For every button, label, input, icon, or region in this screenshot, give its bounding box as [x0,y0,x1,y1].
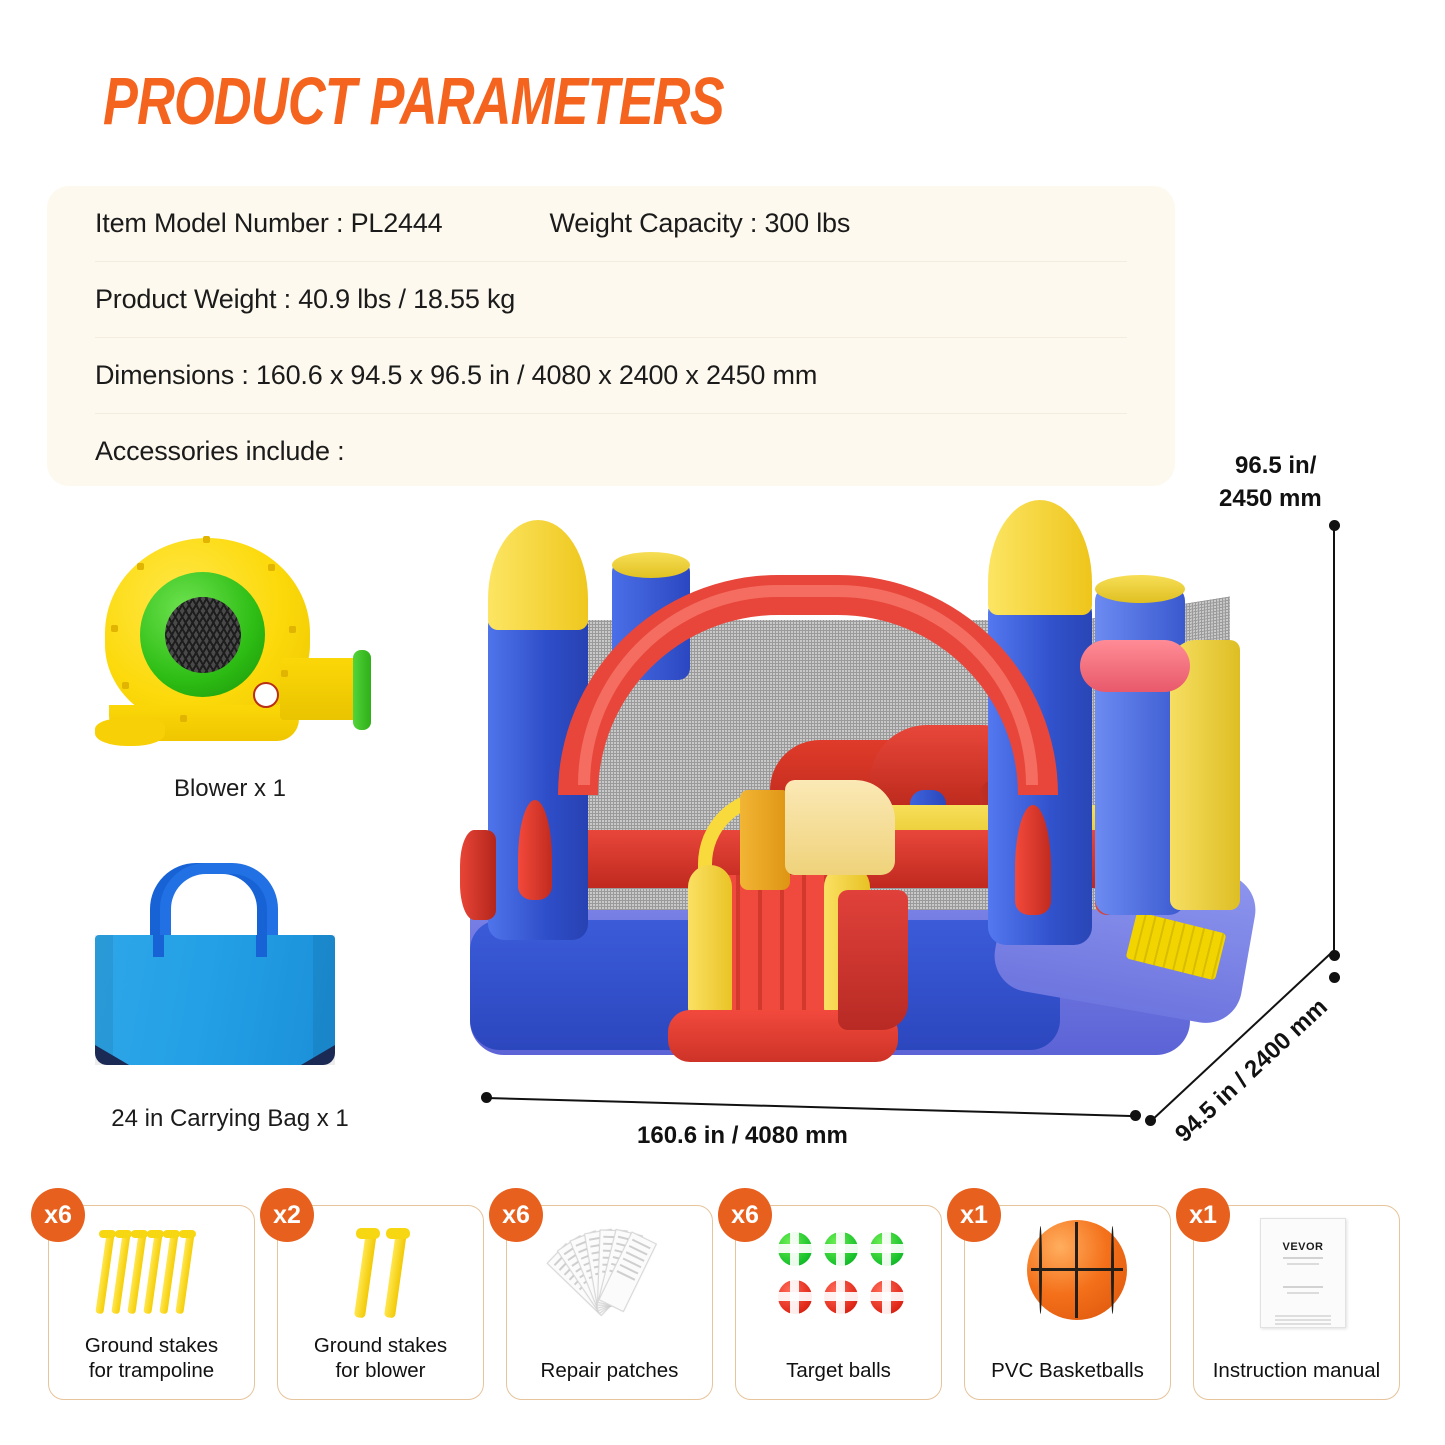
accessory-card-label: Ground stakes for blower [278,1333,483,1383]
accessory-label-line1: Ground stakes [85,1334,218,1357]
quantity-badge: x1 [1176,1188,1230,1242]
spec-weight-capacity: Weight Capacity : 300 lbs [549,208,850,239]
dimension-height-label-line1: 96.5 in/ [1235,452,1316,480]
blower-bolt [137,563,144,570]
manual-logo: VEVOR [1261,1241,1345,1253]
slide-back-ramp [785,780,895,875]
blower-caption: Blower x 1 [85,775,375,803]
accessory-cards: x6 Ground stakes for trampoline x2 [48,1205,1400,1405]
bag-side-panel [313,935,335,1065]
accessory-label-line2: for blower [335,1359,425,1382]
manual-body-line [1275,1315,1331,1317]
slide-back-post [740,790,790,890]
spec-panel: Item Model Number : PL2444 Weight Capaci… [47,186,1175,486]
dimension-depth-dot-top [1329,972,1340,983]
spec-item-model-number: Item Model Number : PL2444 [95,208,442,239]
spec-accessories-include: Accessories include : [95,436,344,467]
accessory-label-line1: PVC Basketballs [991,1359,1144,1382]
ground-stakes-trampoline-icon [49,1218,254,1328]
bounce-house-image [440,490,1260,1110]
house-column-right-top [1095,575,1185,603]
manual-model [1287,1292,1319,1294]
blower-foot-left [95,718,165,746]
blower-bolt [281,670,288,677]
manual-subtitle [1287,1263,1319,1265]
blower-bolt [289,626,296,633]
house-tower-right-cone [988,500,1092,615]
instruction-manual-icon: VEVOR [1194,1218,1399,1328]
spec-row: Accessories include : [95,414,1127,489]
blower-bolt [111,625,118,632]
dimension-width-dot-left [481,1092,492,1103]
accessory-card-label: Ground stakes for trampoline [49,1333,254,1383]
quantity-badge: x6 [489,1188,543,1242]
dimension-width-dot-right [1130,1110,1141,1121]
accessory-card-instruction-manual[interactable]: x1 VEVOR Instruction manual [1193,1205,1400,1400]
repair-patches-icon [507,1218,712,1328]
slide-rail-left [688,865,732,1030]
manual-body-line [1275,1319,1331,1321]
accessory-card-label: Instruction manual [1194,1358,1399,1383]
quantity-badge: x6 [31,1188,85,1242]
house-tower-left-cone [488,520,588,630]
slide-surface [718,875,836,1025]
accessory-label-line2: for trampoline [89,1359,214,1382]
dimension-height-dot-top [1329,520,1340,531]
manual-body-line [1275,1323,1331,1325]
blower-bolt [122,682,129,689]
blower-grille [165,597,241,673]
accessory-card-label: PVC Basketballs [965,1358,1170,1383]
accessory-card-label: Target balls [736,1358,941,1383]
spec-product-weight: Product Weight : 40.9 lbs / 18.55 kg [95,284,515,315]
manual-product-name [1283,1286,1323,1288]
blower-bolt [180,715,187,722]
bag-strap [153,935,164,957]
accessory-card-target-balls[interactable]: x6 Target balls [735,1205,942,1400]
accessory-label-line1: Instruction manual [1213,1359,1381,1382]
bag-body [95,935,335,1065]
bag-side-panel [95,935,113,1065]
accessory-card-ground-stakes-trampoline[interactable]: x6 Ground stakes for trampoline [48,1205,255,1400]
accessory-label-line1: Repair patches [541,1359,679,1382]
page-title: PRODUCT PARAMETERS [103,68,724,135]
blower-warning-label [253,682,279,708]
basketball-body [1027,1220,1127,1320]
accessory-label-line1: Ground stakes [314,1334,447,1357]
blower-bolt [268,564,275,571]
slide-side-wall [838,890,908,1030]
accessory-card-pvc-basketball[interactable]: x1 PVC Basketballs [964,1205,1171,1400]
manual-page: VEVOR [1260,1218,1346,1328]
dimension-height-label-line2: 2450 mm [1219,485,1322,513]
house-tower-left-fin [460,830,496,920]
carrying-bag-image [85,855,375,1085]
spec-row: Product Weight : 40.9 lbs / 18.55 kg [95,262,1127,338]
ground-stakes-blower-icon [278,1218,483,1328]
accessory-label-line1: Target balls [786,1359,891,1382]
accessory-card-ground-stakes-blower[interactable]: x2 Ground stakes for blower [277,1205,484,1400]
accessory-card-repair-patches[interactable]: x6 Repair patches [506,1205,713,1400]
blower-image [85,530,375,770]
bag-strap [256,935,267,957]
house-pink-roller [1080,640,1190,692]
dimension-width-label: 160.6 in / 4080 mm [637,1122,848,1150]
accessory-card-label: Repair patches [507,1358,712,1383]
pvc-basketball-icon [965,1218,1170,1328]
blower-outlet-flange [353,650,371,730]
spec-dimensions: Dimensions : 160.6 x 94.5 x 96.5 in / 40… [95,360,817,391]
spec-row: Dimensions : 160.6 x 94.5 x 96.5 in / 40… [95,338,1127,414]
spec-row: Item Model Number : PL2444 Weight Capaci… [95,186,1127,262]
house-turret-left-top [612,552,690,578]
target-balls-icon [736,1218,941,1328]
quantity-badge: x1 [947,1188,1001,1242]
quantity-badge: x2 [260,1188,314,1242]
dimension-depth-dot-bottom [1145,1115,1156,1126]
quantity-badge: x6 [718,1188,772,1242]
manual-tagline [1283,1257,1323,1259]
carrying-bag-caption: 24 in Carrying Bag x 1 [60,1105,400,1133]
blower-bolt [203,536,210,543]
dimension-height-line [1333,525,1335,955]
